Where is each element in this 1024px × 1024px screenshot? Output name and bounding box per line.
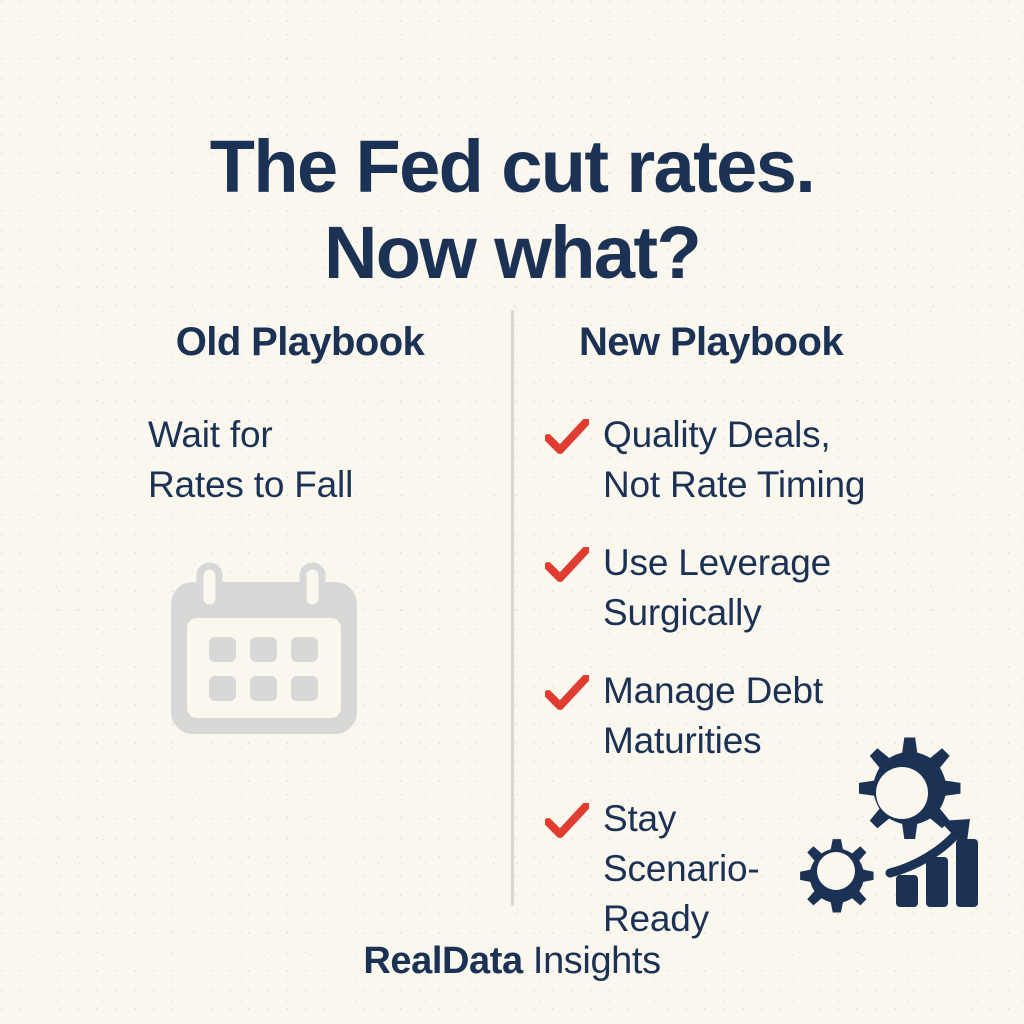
new-playbook-title: New Playbook xyxy=(533,318,953,366)
list-item-line-1: Use Leverage xyxy=(603,538,953,588)
list-item: Quality Deals, Not Rate Timing xyxy=(533,410,953,510)
list-item-line-2: Not Rate Timing xyxy=(603,460,953,510)
list-item-line-1: Quality Deals, xyxy=(603,410,953,460)
calendar-icon xyxy=(165,560,363,742)
check-icon xyxy=(545,674,589,710)
list-item: Use Leverage Surgically xyxy=(533,538,953,638)
old-body-line-2: Rates to Fall xyxy=(148,460,500,510)
old-playbook-title: Old Playbook xyxy=(100,318,500,366)
brand-name-strong: RealData xyxy=(363,940,522,982)
page-title: The Fed cut rates. Now what? xyxy=(0,124,1024,296)
brand-name-light: Insights xyxy=(523,940,661,982)
infographic-canvas: The Fed cut rates. Now what? Old Playboo… xyxy=(0,0,1024,1024)
old-playbook-column: Old Playbook Wait for Rates to Fall xyxy=(100,318,500,510)
gears-growth-chart-icon xyxy=(798,727,978,915)
list-item-line-2: Surgically xyxy=(603,588,953,638)
list-item-line-1: Manage Debt xyxy=(603,666,953,716)
check-icon xyxy=(545,418,589,454)
old-playbook-body: Wait for Rates to Fall xyxy=(100,410,500,510)
headline-line-2: Now what? xyxy=(0,210,1024,296)
check-icon xyxy=(545,546,589,582)
column-divider xyxy=(511,310,514,906)
check-icon xyxy=(545,802,589,838)
old-body-line-1: Wait for xyxy=(148,410,500,460)
headline-line-1: The Fed cut rates. xyxy=(0,124,1024,210)
footer-brand: RealData Insights xyxy=(0,938,1024,984)
